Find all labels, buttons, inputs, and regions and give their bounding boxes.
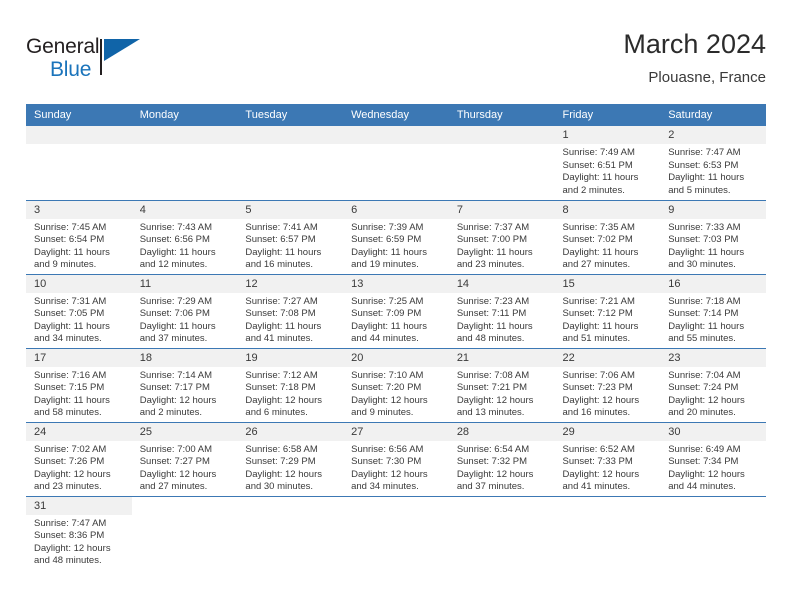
day-number: 26 — [237, 423, 343, 441]
day-number: 29 — [555, 423, 661, 441]
day-details: Sunrise: 6:58 AMSunset: 7:29 PMDaylight:… — [237, 441, 343, 494]
day-number: 17 — [26, 349, 132, 367]
calendar-day-cell-24[interactable]: 24Sunrise: 7:02 AMSunset: 7:26 PMDayligh… — [26, 422, 132, 496]
day-details: Sunrise: 7:27 AMSunset: 7:08 PMDaylight:… — [237, 293, 343, 346]
day-number: 20 — [343, 349, 449, 367]
daylight-duration-line1: Daylight: 12 hours — [351, 469, 443, 482]
day-details: Sunrise: 7:49 AMSunset: 6:51 PMDaylight:… — [555, 144, 661, 197]
daylight-duration-line2: and 34 minutes. — [351, 481, 443, 494]
logo-text-general: General — [26, 36, 166, 57]
day-details: Sunrise: 7:23 AMSunset: 7:11 PMDaylight:… — [449, 293, 555, 346]
day-details: Sunrise: 7:43 AMSunset: 6:56 PMDaylight:… — [132, 219, 238, 272]
calendar-day-cell-empty — [26, 126, 132, 200]
sunrise-time: Sunrise: 7:10 AM — [351, 370, 443, 383]
day-number: 5 — [237, 201, 343, 219]
sunrise-time: Sunrise: 7:16 AM — [34, 370, 126, 383]
sunrise-time: Sunrise: 6:58 AM — [245, 444, 337, 457]
daylight-duration-line2: and 41 minutes. — [563, 481, 655, 494]
sunrise-time: Sunrise: 7:27 AM — [245, 296, 337, 309]
calendar-day-cell-30[interactable]: 30Sunrise: 6:49 AMSunset: 7:34 PMDayligh… — [660, 422, 766, 496]
calendar-day-cell-empty — [237, 496, 343, 570]
sunset-time: Sunset: 6:56 PM — [140, 234, 232, 247]
day-number: 13 — [343, 275, 449, 293]
day-details: Sunrise: 7:16 AMSunset: 7:15 PMDaylight:… — [26, 367, 132, 420]
daylight-duration-line2: and 51 minutes. — [563, 333, 655, 346]
sunrise-time: Sunrise: 7:37 AM — [457, 222, 549, 235]
day-number: 19 — [237, 349, 343, 367]
calendar-day-cell-27[interactable]: 27Sunrise: 6:56 AMSunset: 7:30 PMDayligh… — [343, 422, 449, 496]
daylight-duration-line1: Daylight: 12 hours — [34, 469, 126, 482]
sunrise-time: Sunrise: 7:02 AM — [34, 444, 126, 457]
calendar-body: 1Sunrise: 7:49 AMSunset: 6:51 PMDaylight… — [26, 126, 766, 570]
day-details: Sunrise: 7:10 AMSunset: 7:20 PMDaylight:… — [343, 367, 449, 420]
day-number — [237, 497, 343, 515]
daylight-duration-line2: and 55 minutes. — [668, 333, 760, 346]
daylight-duration-line2: and 9 minutes. — [351, 407, 443, 420]
day-number — [237, 126, 343, 144]
day-number: 3 — [26, 201, 132, 219]
day-number: 30 — [660, 423, 766, 441]
sunrise-time: Sunrise: 7:06 AM — [563, 370, 655, 383]
daylight-duration-line1: Daylight: 12 hours — [563, 469, 655, 482]
sunrise-time: Sunrise: 7:39 AM — [351, 222, 443, 235]
daylight-duration-line2: and 12 minutes. — [140, 259, 232, 272]
day-details: Sunrise: 7:33 AMSunset: 7:03 PMDaylight:… — [660, 219, 766, 272]
sunset-time: Sunset: 7:02 PM — [563, 234, 655, 247]
daylight-duration-line1: Daylight: 12 hours — [668, 395, 760, 408]
day-number: 1 — [555, 126, 661, 144]
daylight-duration-line2: and 44 minutes. — [668, 481, 760, 494]
daylight-duration-line1: Daylight: 12 hours — [457, 395, 549, 408]
weekday-header-sunday: Sunday — [26, 104, 132, 126]
weekday-header-friday: Friday — [555, 104, 661, 126]
calendar-day-cell-empty — [343, 126, 449, 200]
daylight-duration-line1: Daylight: 11 hours — [34, 247, 126, 260]
calendar-day-cell-14[interactable]: 14Sunrise: 7:23 AMSunset: 7:11 PMDayligh… — [449, 274, 555, 348]
sunrise-time: Sunrise: 6:49 AM — [668, 444, 760, 457]
calendar-week-row: 1Sunrise: 7:49 AMSunset: 6:51 PMDaylight… — [26, 126, 766, 200]
daylight-duration-line1: Daylight: 11 hours — [457, 247, 549, 260]
sunrise-time: Sunrise: 7:45 AM — [34, 222, 126, 235]
triangle-logo-icon — [104, 39, 140, 61]
daylight-duration-line2: and 23 minutes. — [34, 481, 126, 494]
sunset-time: Sunset: 7:32 PM — [457, 456, 549, 469]
sunset-time: Sunset: 7:06 PM — [140, 308, 232, 321]
day-details: Sunrise: 7:45 AMSunset: 6:54 PMDaylight:… — [26, 219, 132, 272]
sunset-time: Sunset: 6:59 PM — [351, 234, 443, 247]
day-number: 18 — [132, 349, 238, 367]
day-number — [555, 497, 661, 515]
daylight-duration-line2: and 37 minutes. — [457, 481, 549, 494]
day-number — [449, 126, 555, 144]
daylight-duration-line2: and 19 minutes. — [351, 259, 443, 272]
day-number: 24 — [26, 423, 132, 441]
daylight-duration-line1: Daylight: 11 hours — [457, 321, 549, 334]
daylight-duration-line1: Daylight: 11 hours — [245, 247, 337, 260]
sunrise-time: Sunrise: 7:18 AM — [668, 296, 760, 309]
calendar-day-cell-8[interactable]: 8Sunrise: 7:35 AMSunset: 7:02 PMDaylight… — [555, 200, 661, 274]
calendar-day-cell-empty — [660, 496, 766, 570]
day-number — [26, 126, 132, 144]
daylight-duration-line2: and 16 minutes. — [245, 259, 337, 272]
daylight-duration-line1: Daylight: 12 hours — [457, 469, 549, 482]
daylight-duration-line2: and 27 minutes. — [563, 259, 655, 272]
calendar-day-cell-28[interactable]: 28Sunrise: 6:54 AMSunset: 7:32 PMDayligh… — [449, 422, 555, 496]
day-details: Sunrise: 7:39 AMSunset: 6:59 PMDaylight:… — [343, 219, 449, 272]
daylight-duration-line1: Daylight: 11 hours — [668, 321, 760, 334]
calendar-day-cell-empty — [237, 126, 343, 200]
day-number: 23 — [660, 349, 766, 367]
sunset-time: Sunset: 7:15 PM — [34, 382, 126, 395]
day-details: Sunrise: 7:21 AMSunset: 7:12 PMDaylight:… — [555, 293, 661, 346]
day-details: Sunrise: 7:35 AMSunset: 7:02 PMDaylight:… — [555, 219, 661, 272]
day-number: 15 — [555, 275, 661, 293]
sunrise-time: Sunrise: 7:31 AM — [34, 296, 126, 309]
calendar-week-row: 24Sunrise: 7:02 AMSunset: 7:26 PMDayligh… — [26, 422, 766, 496]
day-number: 25 — [132, 423, 238, 441]
calendar-week-row: 3Sunrise: 7:45 AMSunset: 6:54 PMDaylight… — [26, 200, 766, 274]
sunset-time: Sunset: 7:30 PM — [351, 456, 443, 469]
day-details: Sunrise: 7:37 AMSunset: 7:00 PMDaylight:… — [449, 219, 555, 272]
sunrise-time: Sunrise: 7:23 AM — [457, 296, 549, 309]
calendar-day-cell-17[interactable]: 17Sunrise: 7:16 AMSunset: 7:15 PMDayligh… — [26, 348, 132, 422]
daylight-duration-line1: Daylight: 11 hours — [668, 172, 760, 185]
sunrise-time: Sunrise: 7:04 AM — [668, 370, 760, 383]
daylight-duration-line2: and 20 minutes. — [668, 407, 760, 420]
daylight-duration-line1: Daylight: 11 hours — [140, 321, 232, 334]
daylight-duration-line2: and 37 minutes. — [140, 333, 232, 346]
daylight-duration-line1: Daylight: 12 hours — [668, 469, 760, 482]
day-details: Sunrise: 7:31 AMSunset: 7:05 PMDaylight:… — [26, 293, 132, 346]
day-details: Sunrise: 7:08 AMSunset: 7:21 PMDaylight:… — [449, 367, 555, 420]
day-number: 22 — [555, 349, 661, 367]
calendar-day-cell-empty — [449, 496, 555, 570]
sunset-time: Sunset: 7:21 PM — [457, 382, 549, 395]
title-block: March 2024 Plouasne, France — [623, 30, 766, 86]
day-number: 2 — [660, 126, 766, 144]
daylight-duration-line2: and 41 minutes. — [245, 333, 337, 346]
calendar-day-cell-21[interactable]: 21Sunrise: 7:08 AMSunset: 7:21 PMDayligh… — [449, 348, 555, 422]
daylight-duration-line1: Daylight: 11 hours — [563, 321, 655, 334]
daylight-duration-line2: and 13 minutes. — [457, 407, 549, 420]
sunset-time: Sunset: 7:00 PM — [457, 234, 549, 247]
sunset-time: Sunset: 7:14 PM — [668, 308, 760, 321]
page-header: General Blue March 2024 Plouasne, France — [26, 30, 766, 98]
day-details: Sunrise: 6:54 AMSunset: 7:32 PMDaylight:… — [449, 441, 555, 494]
daylight-duration-line1: Daylight: 11 hours — [351, 247, 443, 260]
daylight-duration-line2: and 2 minutes. — [140, 407, 232, 420]
calendar-day-cell-25[interactable]: 25Sunrise: 7:00 AMSunset: 7:27 PMDayligh… — [132, 422, 238, 496]
sunset-time: Sunset: 7:26 PM — [34, 456, 126, 469]
day-number: 28 — [449, 423, 555, 441]
daylight-duration-line2: and 27 minutes. — [140, 481, 232, 494]
calendar-day-cell-22[interactable]: 22Sunrise: 7:06 AMSunset: 7:23 PMDayligh… — [555, 348, 661, 422]
daylight-duration-line1: Daylight: 12 hours — [563, 395, 655, 408]
calendar-day-cell-23[interactable]: 23Sunrise: 7:04 AMSunset: 7:24 PMDayligh… — [660, 348, 766, 422]
calendar-week-row: 10Sunrise: 7:31 AMSunset: 7:05 PMDayligh… — [26, 274, 766, 348]
calendar-day-cell-18[interactable]: 18Sunrise: 7:14 AMSunset: 7:17 PMDayligh… — [132, 348, 238, 422]
calendar-day-cell-empty — [132, 496, 238, 570]
daylight-duration-line1: Daylight: 12 hours — [351, 395, 443, 408]
calendar-day-cell-1[interactable]: 1Sunrise: 7:49 AMSunset: 6:51 PMDaylight… — [555, 126, 661, 200]
daylight-duration-line2: and 48 minutes. — [457, 333, 549, 346]
page-title: March 2024 — [623, 30, 766, 60]
day-details: Sunrise: 6:56 AMSunset: 7:30 PMDaylight:… — [343, 441, 449, 494]
logo-divider — [100, 39, 102, 75]
day-details: Sunrise: 6:52 AMSunset: 7:33 PMDaylight:… — [555, 441, 661, 494]
calendar-day-cell-empty — [132, 126, 238, 200]
day-details: Sunrise: 7:41 AMSunset: 6:57 PMDaylight:… — [237, 219, 343, 272]
sunset-time: Sunset: 7:18 PM — [245, 382, 337, 395]
calendar-day-cell-empty — [343, 496, 449, 570]
day-number: 27 — [343, 423, 449, 441]
day-number: 7 — [449, 201, 555, 219]
weekday-header-monday: Monday — [132, 104, 238, 126]
calendar-week-row: 31Sunrise: 7:47 AMSunset: 8:36 PMDayligh… — [26, 496, 766, 570]
daylight-duration-line1: Daylight: 11 hours — [563, 172, 655, 185]
calendar-day-cell-6[interactable]: 6Sunrise: 7:39 AMSunset: 6:59 PMDaylight… — [343, 200, 449, 274]
sunset-time: Sunset: 7:29 PM — [245, 456, 337, 469]
calendar-day-cell-13[interactable]: 13Sunrise: 7:25 AMSunset: 7:09 PMDayligh… — [343, 274, 449, 348]
day-number: 8 — [555, 201, 661, 219]
sunset-time: Sunset: 7:12 PM — [563, 308, 655, 321]
sunset-time: Sunset: 6:54 PM — [34, 234, 126, 247]
sunset-time: Sunset: 7:27 PM — [140, 456, 232, 469]
day-number — [343, 497, 449, 515]
sunrise-time: Sunrise: 7:41 AM — [245, 222, 337, 235]
day-details: Sunrise: 7:00 AMSunset: 7:27 PMDaylight:… — [132, 441, 238, 494]
daylight-duration-line2: and 44 minutes. — [351, 333, 443, 346]
daylight-duration-line1: Daylight: 12 hours — [140, 395, 232, 408]
daylight-duration-line2: and 30 minutes. — [668, 259, 760, 272]
sunrise-time: Sunrise: 7:49 AM — [563, 147, 655, 160]
sunrise-sunset-calendar: Sunday Monday Tuesday Wednesday Thursday… — [26, 104, 766, 570]
sunset-time: Sunset: 7:24 PM — [668, 382, 760, 395]
calendar-day-cell-19[interactable]: 19Sunrise: 7:12 AMSunset: 7:18 PMDayligh… — [237, 348, 343, 422]
sunset-time: Sunset: 7:03 PM — [668, 234, 760, 247]
day-details: Sunrise: 6:49 AMSunset: 7:34 PMDaylight:… — [660, 441, 766, 494]
day-number: 6 — [343, 201, 449, 219]
day-number: 21 — [449, 349, 555, 367]
daylight-duration-line1: Daylight: 11 hours — [668, 247, 760, 260]
sunset-time: Sunset: 7:23 PM — [563, 382, 655, 395]
day-details: Sunrise: 7:25 AMSunset: 7:09 PMDaylight:… — [343, 293, 449, 346]
sunrise-time: Sunrise: 7:33 AM — [668, 222, 760, 235]
daylight-duration-line2: and 58 minutes. — [34, 407, 126, 420]
weekday-header-saturday: Saturday — [660, 104, 766, 126]
day-details: Sunrise: 7:47 AMSunset: 6:53 PMDaylight:… — [660, 144, 766, 197]
sunrise-time: Sunrise: 7:21 AM — [563, 296, 655, 309]
sunrise-time: Sunrise: 6:56 AM — [351, 444, 443, 457]
sunrise-time: Sunrise: 7:47 AM — [668, 147, 760, 160]
day-number: 9 — [660, 201, 766, 219]
calendar-week-row: 17Sunrise: 7:16 AMSunset: 7:15 PMDayligh… — [26, 348, 766, 422]
page-subtitle: Plouasne, France — [623, 69, 766, 86]
calendar-day-cell-9[interactable]: 9Sunrise: 7:33 AMSunset: 7:03 PMDaylight… — [660, 200, 766, 274]
daylight-duration-line2: and 30 minutes. — [245, 481, 337, 494]
daylight-duration-line2: and 23 minutes. — [457, 259, 549, 272]
calendar-day-cell-31[interactable]: 31Sunrise: 7:47 AMSunset: 8:36 PMDayligh… — [26, 496, 132, 570]
daylight-duration-line2: and 34 minutes. — [34, 333, 126, 346]
weekday-header-thursday: Thursday — [449, 104, 555, 126]
daylight-duration-line1: Daylight: 12 hours — [245, 469, 337, 482]
day-number: 16 — [660, 275, 766, 293]
calendar-day-cell-5[interactable]: 5Sunrise: 7:41 AMSunset: 6:57 PMDaylight… — [237, 200, 343, 274]
daylight-duration-line2: and 5 minutes. — [668, 185, 760, 198]
day-number: 11 — [132, 275, 238, 293]
day-details: Sunrise: 7:06 AMSunset: 7:23 PMDaylight:… — [555, 367, 661, 420]
weekday-header-row: Sunday Monday Tuesday Wednesday Thursday… — [26, 104, 766, 126]
daylight-duration-line2: and 16 minutes. — [563, 407, 655, 420]
sunrise-time: Sunrise: 7:12 AM — [245, 370, 337, 383]
daylight-duration-line1: Daylight: 11 hours — [34, 321, 126, 334]
sunset-time: Sunset: 6:51 PM — [563, 160, 655, 173]
calendar-day-cell-4[interactable]: 4Sunrise: 7:43 AMSunset: 6:56 PMDaylight… — [132, 200, 238, 274]
sunset-time: Sunset: 7:20 PM — [351, 382, 443, 395]
sunset-time: Sunset: 8:36 PM — [34, 530, 126, 543]
day-details: Sunrise: 7:14 AMSunset: 7:17 PMDaylight:… — [132, 367, 238, 420]
calendar-day-cell-11[interactable]: 11Sunrise: 7:29 AMSunset: 7:06 PMDayligh… — [132, 274, 238, 348]
sunset-time: Sunset: 7:33 PM — [563, 456, 655, 469]
day-number — [449, 497, 555, 515]
weekday-header-wednesday: Wednesday — [343, 104, 449, 126]
day-details: Sunrise: 7:12 AMSunset: 7:18 PMDaylight:… — [237, 367, 343, 420]
calendar-day-cell-empty — [449, 126, 555, 200]
sunrise-time: Sunrise: 7:47 AM — [34, 518, 126, 531]
general-blue-logo[interactable]: General Blue — [26, 30, 166, 90]
sunset-time: Sunset: 7:09 PM — [351, 308, 443, 321]
day-number: 4 — [132, 201, 238, 219]
sunrise-time: Sunrise: 7:08 AM — [457, 370, 549, 383]
daylight-duration-line2: and 2 minutes. — [563, 185, 655, 198]
calendar-day-cell-15[interactable]: 15Sunrise: 7:21 AMSunset: 7:12 PMDayligh… — [555, 274, 661, 348]
daylight-duration-line1: Daylight: 11 hours — [140, 247, 232, 260]
day-number: 10 — [26, 275, 132, 293]
sunset-time: Sunset: 6:53 PM — [668, 160, 760, 173]
day-number: 14 — [449, 275, 555, 293]
sunrise-time: Sunrise: 7:35 AM — [563, 222, 655, 235]
day-number — [132, 497, 238, 515]
calendar-day-cell-2[interactable]: 2Sunrise: 7:47 AMSunset: 6:53 PMDaylight… — [660, 126, 766, 200]
daylight-duration-line1: Daylight: 11 hours — [563, 247, 655, 260]
day-number — [132, 126, 238, 144]
calendar-day-cell-20[interactable]: 20Sunrise: 7:10 AMSunset: 7:20 PMDayligh… — [343, 348, 449, 422]
sunset-time: Sunset: 7:34 PM — [668, 456, 760, 469]
calendar-day-cell-3[interactable]: 3Sunrise: 7:45 AMSunset: 6:54 PMDaylight… — [26, 200, 132, 274]
sunset-time: Sunset: 7:05 PM — [34, 308, 126, 321]
sunrise-time: Sunrise: 7:43 AM — [140, 222, 232, 235]
daylight-duration-line2: and 9 minutes. — [34, 259, 126, 272]
calendar-day-cell-26[interactable]: 26Sunrise: 6:58 AMSunset: 7:29 PMDayligh… — [237, 422, 343, 496]
daylight-duration-line1: Daylight: 11 hours — [245, 321, 337, 334]
daylight-duration-line1: Daylight: 11 hours — [351, 321, 443, 334]
sunset-time: Sunset: 6:57 PM — [245, 234, 337, 247]
daylight-duration-line2: and 6 minutes. — [245, 407, 337, 420]
sunrise-time: Sunrise: 7:00 AM — [140, 444, 232, 457]
day-number: 31 — [26, 497, 132, 515]
day-details: Sunrise: 7:02 AMSunset: 7:26 PMDaylight:… — [26, 441, 132, 494]
daylight-duration-line1: Daylight: 12 hours — [140, 469, 232, 482]
sunrise-time: Sunrise: 6:54 AM — [457, 444, 549, 457]
day-details: Sunrise: 7:29 AMSunset: 7:06 PMDaylight:… — [132, 293, 238, 346]
calendar-day-cell-10[interactable]: 10Sunrise: 7:31 AMSunset: 7:05 PMDayligh… — [26, 274, 132, 348]
sunset-time: Sunset: 7:17 PM — [140, 382, 232, 395]
calendar-day-cell-7[interactable]: 7Sunrise: 7:37 AMSunset: 7:00 PMDaylight… — [449, 200, 555, 274]
sunrise-time: Sunrise: 7:29 AM — [140, 296, 232, 309]
calendar-page: General Blue March 2024 Plouasne, France… — [0, 0, 792, 612]
calendar-day-cell-empty — [555, 496, 661, 570]
daylight-duration-line1: Daylight: 12 hours — [34, 543, 126, 556]
sunrise-time: Sunrise: 7:25 AM — [351, 296, 443, 309]
day-number: 12 — [237, 275, 343, 293]
daylight-duration-line1: Daylight: 11 hours — [34, 395, 126, 408]
calendar-day-cell-12[interactable]: 12Sunrise: 7:27 AMSunset: 7:08 PMDayligh… — [237, 274, 343, 348]
sunset-time: Sunset: 7:11 PM — [457, 308, 549, 321]
weekday-header-tuesday: Tuesday — [237, 104, 343, 126]
day-number — [343, 126, 449, 144]
daylight-duration-line1: Daylight: 12 hours — [245, 395, 337, 408]
sunset-time: Sunset: 7:08 PM — [245, 308, 337, 321]
sunrise-time: Sunrise: 7:14 AM — [140, 370, 232, 383]
sunrise-time: Sunrise: 6:52 AM — [563, 444, 655, 457]
calendar-day-cell-29[interactable]: 29Sunrise: 6:52 AMSunset: 7:33 PMDayligh… — [555, 422, 661, 496]
day-number — [660, 497, 766, 515]
logo-text-blue: Blue — [50, 59, 166, 80]
calendar-day-cell-16[interactable]: 16Sunrise: 7:18 AMSunset: 7:14 PMDayligh… — [660, 274, 766, 348]
day-details: Sunrise: 7:18 AMSunset: 7:14 PMDaylight:… — [660, 293, 766, 346]
day-details: Sunrise: 7:04 AMSunset: 7:24 PMDaylight:… — [660, 367, 766, 420]
day-details: Sunrise: 7:47 AMSunset: 8:36 PMDaylight:… — [26, 515, 132, 568]
daylight-duration-line2: and 48 minutes. — [34, 555, 126, 568]
